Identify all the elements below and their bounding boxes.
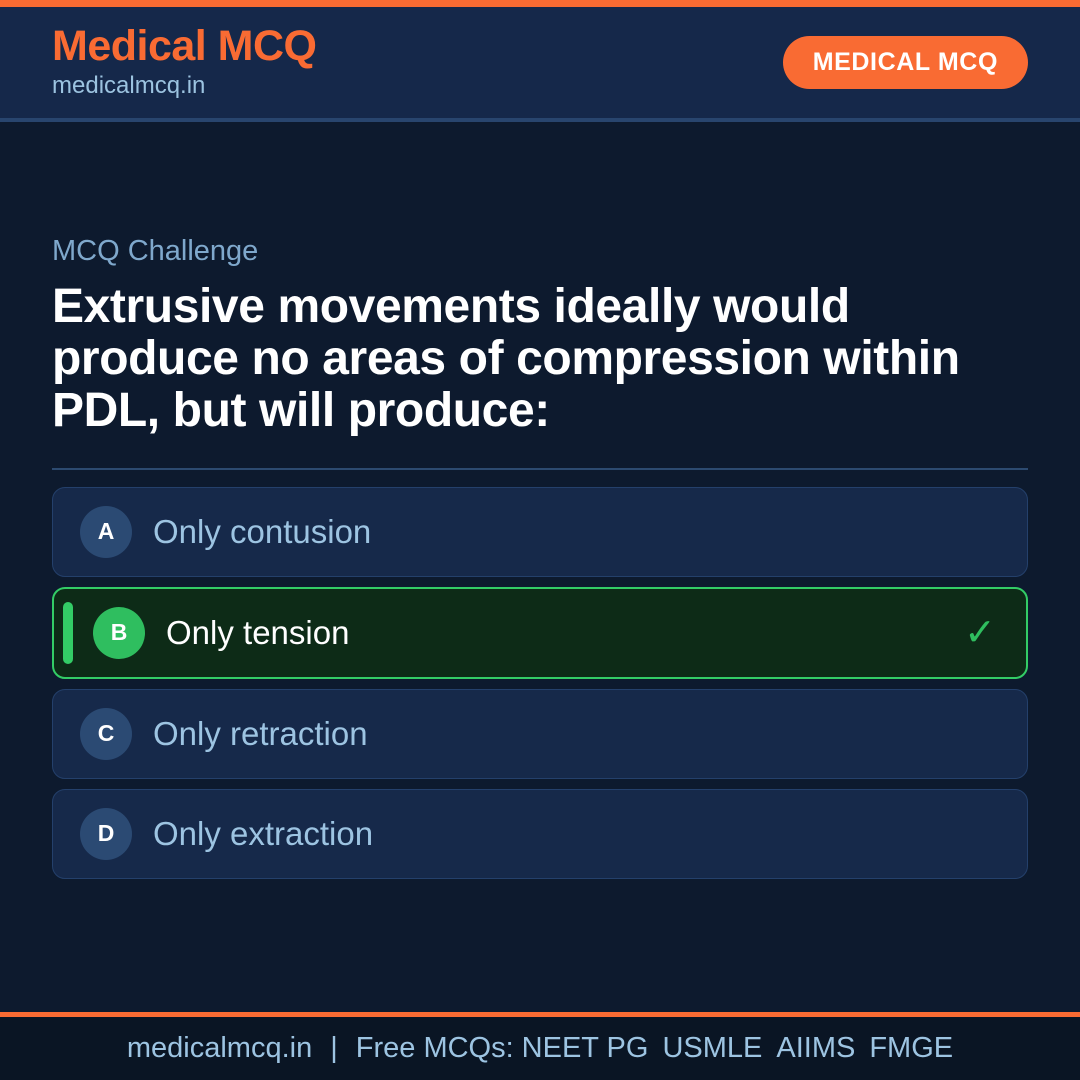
option-a-text: Only contusion xyxy=(153,512,997,552)
option-c-letter: C xyxy=(80,708,132,760)
eyebrow-label: MCQ Challenge xyxy=(52,234,1028,269)
option-b-text: Only tension xyxy=(166,613,964,653)
section-divider xyxy=(52,468,1028,470)
footer-text: medicalmcq.in|Free MCQs:NEET PGUSMLEAIIM… xyxy=(127,1032,953,1065)
main-content: MCQ Challenge Extrusive movements ideall… xyxy=(0,122,1080,1012)
option-d-letter: D xyxy=(80,808,132,860)
footer-site[interactable]: medicalmcq.in xyxy=(127,1032,312,1064)
option-d-text: Only extraction xyxy=(153,814,997,854)
mcq-card: Medical MCQ medicalmcq.in MEDICAL MCQ MC… xyxy=(0,0,1080,1080)
brand-block: Medical MCQ medicalmcq.in xyxy=(52,24,317,100)
footer-exam-item: AIIMS xyxy=(776,1032,855,1064)
option-a[interactable]: A Only contusion ✓ xyxy=(52,487,1028,577)
option-c-text: Only retraction xyxy=(153,714,997,754)
option-a-letter: A xyxy=(80,506,132,558)
option-b[interactable]: B Only tension ✓ xyxy=(52,587,1028,679)
options-list: A Only contusion ✓ B Only tension ✓ C On… xyxy=(52,487,1028,879)
question-text: Extrusive movements ideally would produc… xyxy=(52,281,1012,438)
footer-exam-item: FMGE xyxy=(869,1032,953,1064)
page-header: Medical MCQ medicalmcq.in MEDICAL MCQ xyxy=(0,7,1080,122)
footer-separator: | xyxy=(330,1032,338,1064)
brand-title: Medical MCQ xyxy=(52,24,317,70)
option-c[interactable]: C Only retraction ✓ xyxy=(52,689,1028,779)
option-b-letter: B xyxy=(93,607,145,659)
option-b-letter-wrap: B xyxy=(93,607,166,659)
option-d-letter-wrap: D xyxy=(80,808,153,860)
footer-label: Free MCQs: xyxy=(356,1032,514,1064)
option-d[interactable]: D Only extraction ✓ xyxy=(52,789,1028,879)
correct-accent-bar xyxy=(63,602,73,664)
brand-subtitle: medicalmcq.in xyxy=(52,72,317,101)
option-a-letter-wrap: A xyxy=(80,506,153,558)
footer-exam-list: NEET PGUSMLEAIIMSFMGE xyxy=(522,1032,953,1064)
footer-exam-item: USMLE xyxy=(662,1032,762,1064)
page-footer: medicalmcq.in|Free MCQs:NEET PGUSMLEAIIM… xyxy=(0,1012,1080,1080)
footer-exam-item: NEET PG xyxy=(522,1032,649,1064)
option-c-letter-wrap: C xyxy=(80,708,153,760)
header-badge: MEDICAL MCQ xyxy=(783,36,1028,89)
top-accent-bar xyxy=(0,0,1080,7)
checkmark-icon: ✓ xyxy=(964,614,996,652)
